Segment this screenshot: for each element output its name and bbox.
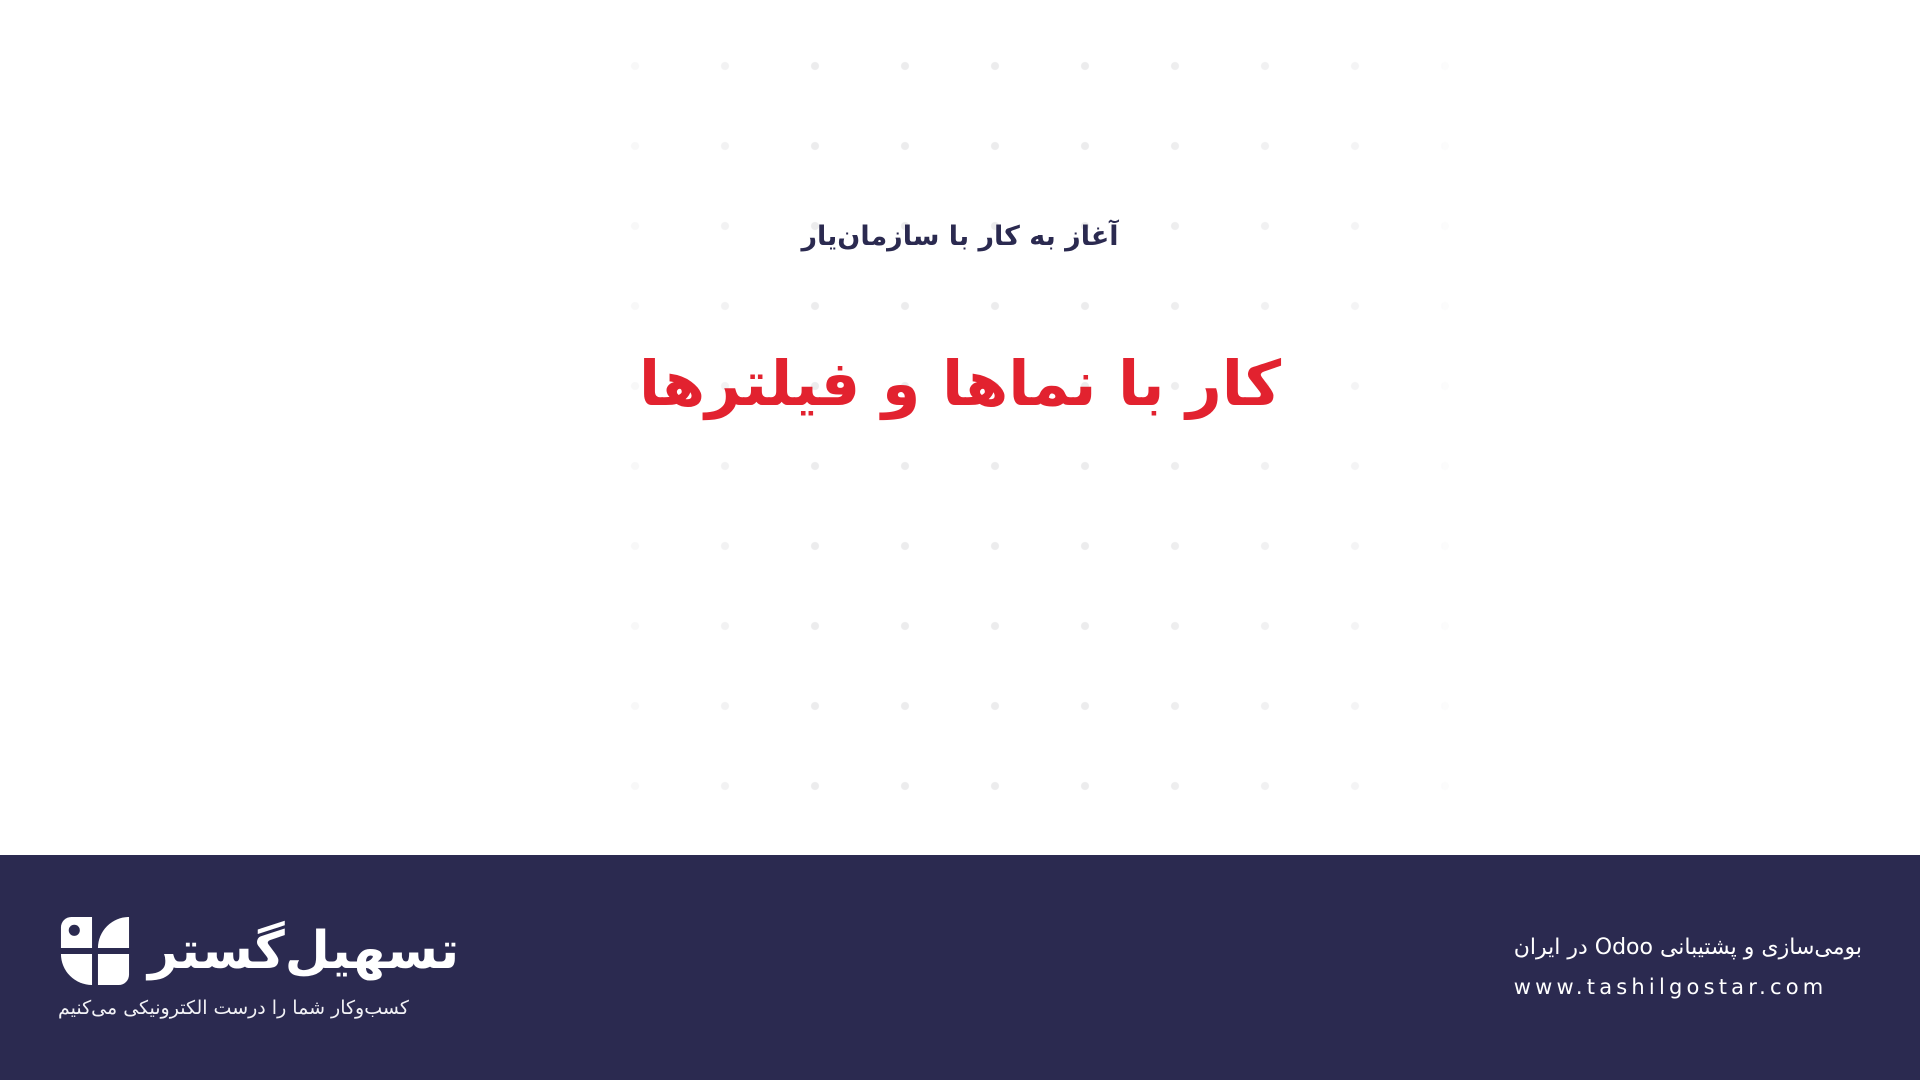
slide-eyebrow: آغاز به کار با سازمان‌یار xyxy=(801,218,1118,256)
footer-website-url[interactable]: www.tashilgostar.com xyxy=(1514,973,1828,1001)
brand-tagline: کسب‌وکار شما را درست الکترونیکی می‌کنیم xyxy=(58,995,409,1022)
presentation-slide: آغاز به کار با سازمان‌یار کار با نماها و… xyxy=(0,0,1920,1080)
brand-primary-row: تسهیل‌گستر xyxy=(58,914,459,988)
footer-tagline: بومی‌سازی و پشتیبانی Odoo در ایران xyxy=(1514,933,1862,963)
slide-footer: بومی‌سازی و پشتیبانی Odoo در ایران www.t… xyxy=(0,855,1920,1080)
brand-wordmark: تسهیل‌گستر xyxy=(148,925,459,977)
slide-content-area: آغاز به کار با سازمان‌یار کار با نماها و… xyxy=(0,0,1920,855)
slide-title: کار با نماها و فیلترها xyxy=(639,344,1281,425)
footer-site-info: بومی‌سازی و پشتیبانی Odoo در ایران www.t… xyxy=(1514,933,1862,1001)
tashilgostar-logo-mark-icon xyxy=(58,914,132,988)
brand-lockup: تسهیل‌گستر کسب‌وکار شما را درست الکترونی… xyxy=(58,914,459,1022)
